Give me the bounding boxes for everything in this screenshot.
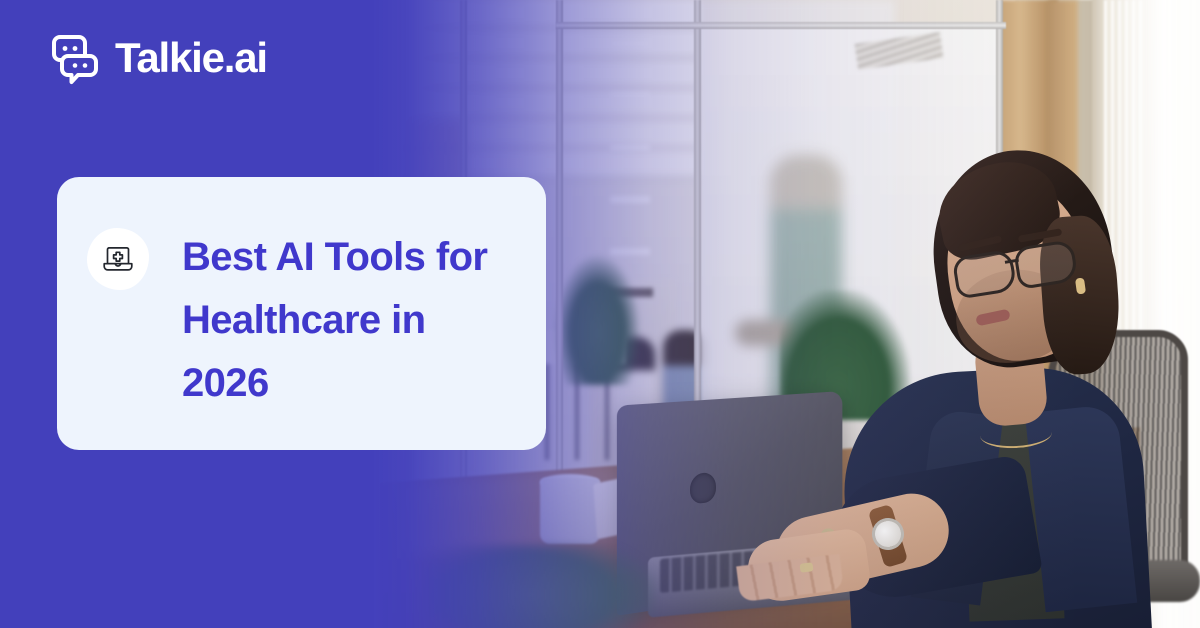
banner-root: Talkie.ai Best AI Tools for Healthcare i… — [0, 0, 1200, 628]
title-card: Best AI Tools for Healthcare in 2026 — [57, 177, 546, 450]
laptop-medical-cross-icon — [101, 242, 135, 276]
corridor-ceiling-lights — [610, 40, 650, 270]
chat-bubbles-icon — [48, 31, 102, 85]
page-title: Best AI Tools for Healthcare in 2026 — [182, 226, 512, 415]
foreground-succulent-plant — [425, 545, 655, 628]
person-at-laptop — [830, 120, 1160, 628]
coffee-mug — [540, 478, 600, 544]
corridor-plant — [555, 255, 640, 385]
brand-name: Talkie.ai — [115, 37, 267, 79]
card-icon-badge — [87, 228, 149, 290]
person-ring — [800, 562, 814, 573]
brand-logo[interactable]: Talkie.ai — [48, 31, 267, 85]
glass-transom-bar — [556, 22, 1006, 29]
